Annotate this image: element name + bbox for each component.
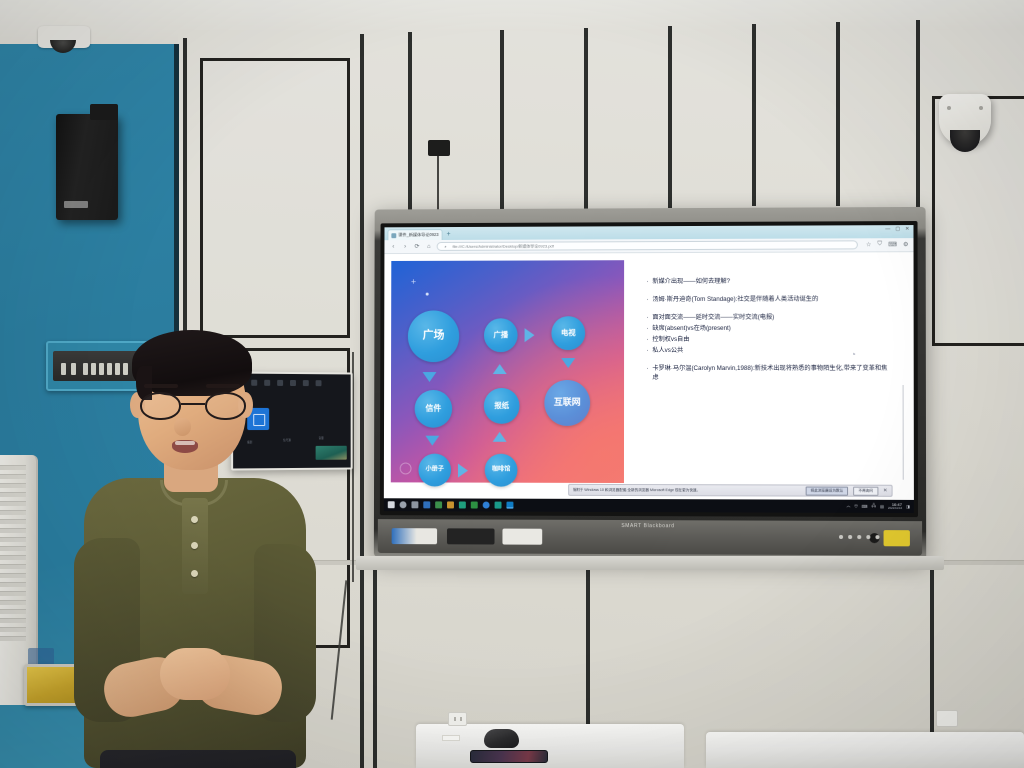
taskbar-clock[interactable]: 16:47 2022/11/14: [888, 503, 902, 510]
search-icon[interactable]: [400, 501, 407, 508]
bullet-dot: ·: [646, 365, 648, 383]
system-tray[interactable]: ︿ ⛉ ⌨ 🖧 ▤ 16:47 2022/11/14 ◨: [846, 503, 909, 510]
bullet-dot: ·: [646, 314, 648, 323]
favorite-star-icon[interactable]: ☆: [866, 241, 871, 248]
taskbar-app-icon[interactable]: [435, 501, 442, 508]
diagram-node-baozhi: 报纸: [484, 388, 520, 424]
presenter-mouth: [172, 440, 198, 453]
dome-security-camera: [939, 94, 991, 146]
start-button-icon[interactable]: [388, 501, 395, 508]
front-desk: [416, 724, 684, 768]
pdf-slide: + 广场 信件 小册子 广播 报: [391, 259, 907, 484]
taskbar-app-icon[interactable]: [495, 502, 502, 509]
slide-watermark-logo: [400, 462, 412, 474]
minimize-icon[interactable]: —: [885, 226, 890, 232]
set-default-button[interactable]: 将此浏览器设为默认: [806, 486, 849, 495]
toolbar-right-icons[interactable]: ☆ ⛉ ⌨ ⚙: [866, 241, 908, 248]
power-outlet: [448, 712, 467, 726]
forward-icon[interactable]: ›: [401, 244, 409, 250]
camera-screw: [979, 106, 983, 110]
bullet-item: · 面对面交流——延时交流——实时交流(电报): [646, 313, 889, 322]
speaker-bracket: [90, 104, 118, 120]
bullet-text: 控制权vs自由: [652, 336, 689, 345]
taskbar-app-icon[interactable]: [447, 501, 454, 508]
close-icon[interactable]: ✕: [883, 488, 887, 494]
slide-bullet-list: · 新媒介出现——如何去理解? · 汤姆·斯丹迪奇(Tom Standage):…: [646, 277, 889, 384]
browser-content[interactable]: + 广场 信件 小册子 广播 报: [384, 252, 914, 500]
camera-preview-thumb[interactable]: [316, 446, 347, 460]
tray-chevron-icon[interactable]: ︿: [846, 503, 850, 509]
glasses-lens: [140, 392, 181, 420]
refresh-icon[interactable]: ⟳: [413, 243, 421, 250]
back-icon[interactable]: ‹: [389, 244, 397, 250]
wall-seam: [836, 22, 840, 206]
diagram-node-guangbo: 广播: [484, 318, 518, 352]
wall-seam: [360, 34, 364, 768]
slide-text-panel: · 新媒介出现——如何去理解? · 汤姆·斯丹迪奇(Tom Standage):…: [624, 259, 907, 484]
display-brand-logo: SMART Blackboard: [621, 523, 674, 529]
power-outlet: [936, 710, 958, 727]
browser-title-bar[interactable]: 课件_新媒体导论0923 + — ▢ ✕: [384, 225, 913, 240]
classroom-photo-scene: 投影 信号源 音量 课件_新媒体导论0923 + —: [0, 0, 1024, 768]
tray-volume-icon[interactable]: ▤: [880, 504, 884, 509]
wall-seam: [408, 32, 412, 212]
display-sticker: [884, 530, 910, 546]
wall-panel-frame: [200, 58, 350, 338]
wall-seam: [668, 26, 672, 208]
arrow-down-icon: [423, 372, 437, 382]
arrow-down-icon: [561, 358, 575, 368]
stray-glyph: ь: [853, 351, 855, 356]
display-bezel: 课件_新媒体导论0923 + — ▢ ✕ ‹ › ⟳: [380, 221, 918, 517]
control-label: 音量: [319, 436, 324, 440]
wall-seam: [500, 30, 504, 212]
presenter-speaking: [78, 330, 310, 768]
diagram-node-hulianwang: 互联网: [544, 380, 590, 426]
bullet-dot: ·: [646, 325, 648, 334]
notes-icon[interactable]: ⌨: [888, 241, 897, 248]
task-view-icon[interactable]: [411, 501, 418, 508]
bullet-item: · 控制权vs自由: [646, 335, 889, 344]
display-sticker: [447, 528, 495, 544]
shirt-button: [191, 516, 198, 523]
shirt-button: [191, 542, 198, 549]
home-icon[interactable]: ⌂: [425, 243, 433, 249]
diagram-node-guangchang: 广场: [408, 310, 459, 362]
arrow-right-icon: [525, 328, 535, 342]
search-icon: ⌕: [442, 244, 450, 249]
wall-seam: [584, 28, 588, 210]
diagram-node-xiaocezi: 小册子: [418, 454, 451, 487]
tray-shield-icon[interactable]: ⛉: [855, 504, 858, 509]
wall-seam: [373, 570, 377, 768]
window-controls[interactable]: — ▢ ✕: [885, 226, 909, 232]
address-bar[interactable]: ⌕ file:///C:/Users/Administrator/Desktop…: [437, 240, 858, 251]
address-bar-url: file:///C:/Users/Administrator/Desktop/新…: [452, 243, 553, 249]
collections-icon[interactable]: ⛉: [878, 241, 883, 248]
arrow-up-icon: [493, 432, 507, 442]
bullet-dot: ·: [646, 278, 648, 287]
wall-speaker: [56, 114, 118, 220]
hanging-cable: [437, 156, 439, 212]
bullet-text: 卡罗琳·马尔温(Carolyn Marvin,1988):新技术出现将熟悉的事物…: [652, 365, 889, 383]
bullet-text: 面对面交流——延时交流——实时交流(电报): [652, 314, 774, 323]
maximize-icon[interactable]: ▢: [895, 226, 900, 232]
wall-seam: [930, 560, 934, 732]
notification-message: 随附于 Windows 10 和浏览器配套,全新的浏览器 Microsoft E…: [573, 487, 801, 493]
settings-gear-icon[interactable]: ⚙: [903, 241, 908, 248]
front-desk: [706, 732, 1024, 768]
bullet-item: · 卡罗琳·马尔温(Carolyn Marvin,1988):新技术出现将熟悉的…: [646, 365, 889, 383]
display-mount-rail: [356, 556, 944, 570]
computer-mouse[interactable]: [484, 729, 519, 748]
bullet-item: · 汤姆·斯丹迪奇(Tom Standage):社交是伴随着人类活动诞生的: [646, 295, 889, 305]
bullet-text: 新媒介出现——如何去理解?: [652, 278, 730, 287]
diagram-node-kafeiguan: 咖啡馆: [485, 454, 518, 487]
arrow-right-icon: [458, 464, 468, 478]
tray-network-icon[interactable]: 🖧: [872, 503, 877, 510]
diagram-node-xinjian: 信件: [415, 390, 453, 428]
bullet-text: 私人vs公共: [652, 347, 683, 356]
arrow-down-icon: [425, 436, 439, 446]
presenter-brow: [206, 384, 240, 388]
taskbar-app-icon[interactable]: [459, 501, 466, 508]
speaker-logo: [64, 201, 88, 208]
shirt-button: [191, 570, 198, 577]
plus-mark: +: [411, 277, 416, 287]
display-screen[interactable]: 课件_新媒体导论0923 + — ▢ ✕ ‹ › ⟳: [384, 225, 914, 513]
edge-notification-bar[interactable]: 随附于 Windows 10 和浏览器配套,全新的浏览器 Microsoft E…: [568, 484, 893, 497]
camera-screw: [947, 106, 951, 110]
note-card: [442, 735, 460, 741]
wall-seam: [752, 24, 756, 206]
display-sticker: [502, 529, 542, 545]
ac-louvers: [0, 465, 26, 645]
glasses-bridge: [181, 403, 205, 405]
bullet-item: · 新媒介出现——如何去理解?: [646, 277, 889, 287]
diagram-node-dianshi: 电视: [551, 316, 585, 350]
dismiss-button[interactable]: 不再询问: [853, 486, 878, 495]
bullet-dot: ·: [646, 296, 648, 305]
slide-divider: [903, 385, 904, 479]
taskbar-app-icon[interactable]: [483, 502, 490, 509]
tab-favicon-icon: [391, 233, 396, 238]
taskbar-app-icon[interactable]: [423, 501, 430, 508]
dot-mark: [426, 293, 429, 296]
arrow-up-icon: [493, 364, 507, 374]
taskbar-app-icon[interactable]: [471, 502, 478, 509]
bullet-text: 汤姆·斯丹迪奇(Tom Standage):社交是伴随着人类活动诞生的: [652, 295, 818, 304]
presenter-hands: [160, 648, 230, 700]
presenter-trousers: [100, 750, 296, 768]
bullet-text: 缺席(absent)vs在场(present): [652, 325, 731, 334]
display-sticker: [392, 528, 437, 544]
bullet-dot: ·: [646, 347, 648, 356]
bullet-item: · 缺席(absent)vs在场(present): [646, 324, 889, 333]
taskbar-edge-icon[interactable]: [506, 502, 513, 509]
tab-title: 课件_新媒体导论0923: [398, 232, 438, 238]
slide-diagram-panel: + 广场 信件 小册子 广播 报: [391, 260, 624, 483]
clock-date: 2022/11/14: [888, 507, 902, 510]
round-eyeglasses-icon: [140, 392, 246, 420]
wall-jack: [428, 140, 450, 156]
windows-taskbar[interactable]: ︿ ⛉ ⌨ 🖧 ▤ 16:47 2022/11/14 ◨: [384, 498, 914, 513]
smartphone[interactable]: [470, 750, 548, 763]
interactive-flat-panel[interactable]: 课件_新媒体导论0923 + — ▢ ✕ ‹ › ⟳: [374, 207, 926, 560]
glasses-lens: [205, 392, 246, 420]
show-desktop-icon[interactable]: ◨: [906, 504, 910, 509]
tray-ime-icon[interactable]: ⌨: [862, 504, 868, 509]
display-chin-bar: SMART Blackboard: [378, 519, 922, 555]
close-icon[interactable]: ✕: [905, 226, 909, 232]
wall-seam: [916, 20, 920, 208]
display-control-buttons[interactable]: [839, 535, 879, 539]
smoke-detector-icon: [38, 26, 90, 48]
browser-window[interactable]: 课件_新媒体导论0923 + — ▢ ✕ ‹ › ⟳: [384, 225, 914, 513]
browser-tab[interactable]: 课件_新媒体导论0923: [387, 229, 442, 240]
presenter-nose: [174, 418, 191, 436]
bullet-dot: ·: [646, 336, 648, 345]
presenter-brow: [144, 384, 178, 388]
new-tab-button[interactable]: +: [447, 229, 451, 240]
